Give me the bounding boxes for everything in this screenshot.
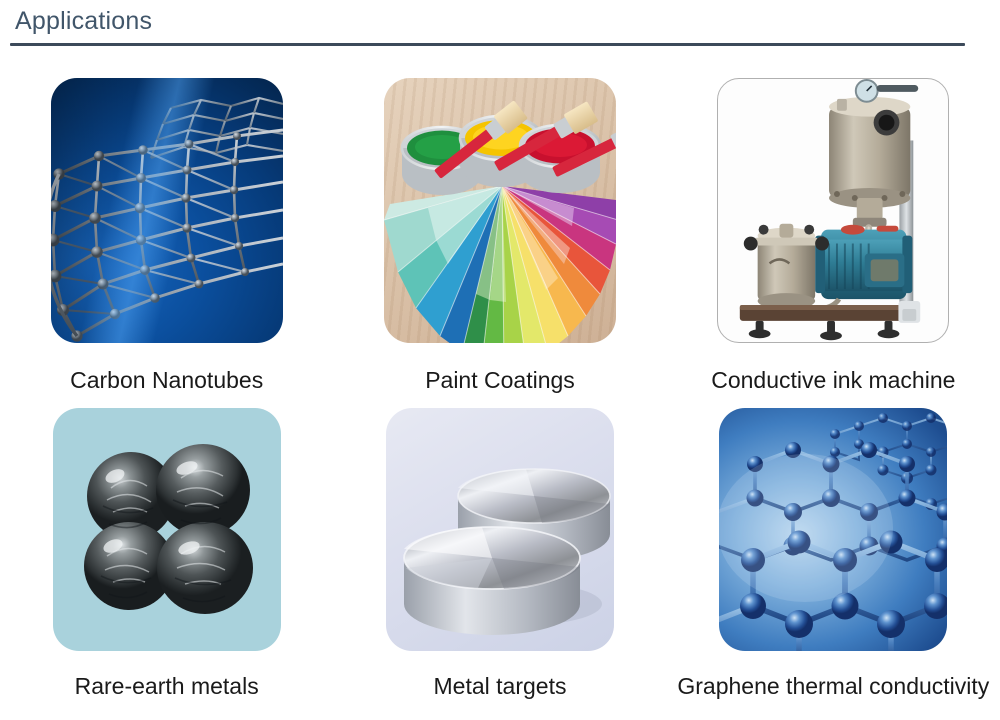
application-card-carbon-nanotubes[interactable]: Carbon Nanotubes [0,70,333,405]
application-card-label: Conductive ink machine [711,365,955,395]
application-card-label: Carbon Nanotubes [70,365,263,395]
application-card-label: Graphene thermal conductivity [677,671,989,701]
title-divider [10,43,965,46]
application-card-paint-coatings[interactable]: Paint Coatings [333,70,666,405]
applications-grid: Carbon Nanotubes [0,70,1000,720]
page-title: Applications [10,4,965,38]
applications-page: Applications [0,0,1000,720]
application-card-rare-earth-metals[interactable]: Rare-earth metals [0,405,333,720]
image-sheen-overlay [51,78,283,343]
rare-earth-metal-spheres-image[interactable] [53,408,281,651]
application-card-label: Metal targets [434,671,567,701]
paint-cans-color-swatch-fan-image[interactable] [384,78,616,343]
application-card-label: Paint Coatings [425,365,575,395]
metal-sputtering-targets-image[interactable] [386,408,614,651]
conductive-ink-grinding-machine-image[interactable] [717,78,949,343]
application-card-label: Rare-earth metals [75,671,259,701]
carbon-nanotube-lattice-image[interactable] [51,78,283,343]
application-card-graphene[interactable]: Graphene thermal conductivity [667,405,1000,720]
graphene-hexagonal-lattice-image[interactable] [719,408,947,651]
section-header: Applications [10,4,965,46]
application-card-conductive-ink-machine[interactable]: Conductive ink machine [667,70,1000,405]
application-card-metal-targets[interactable]: Metal targets [333,405,666,720]
